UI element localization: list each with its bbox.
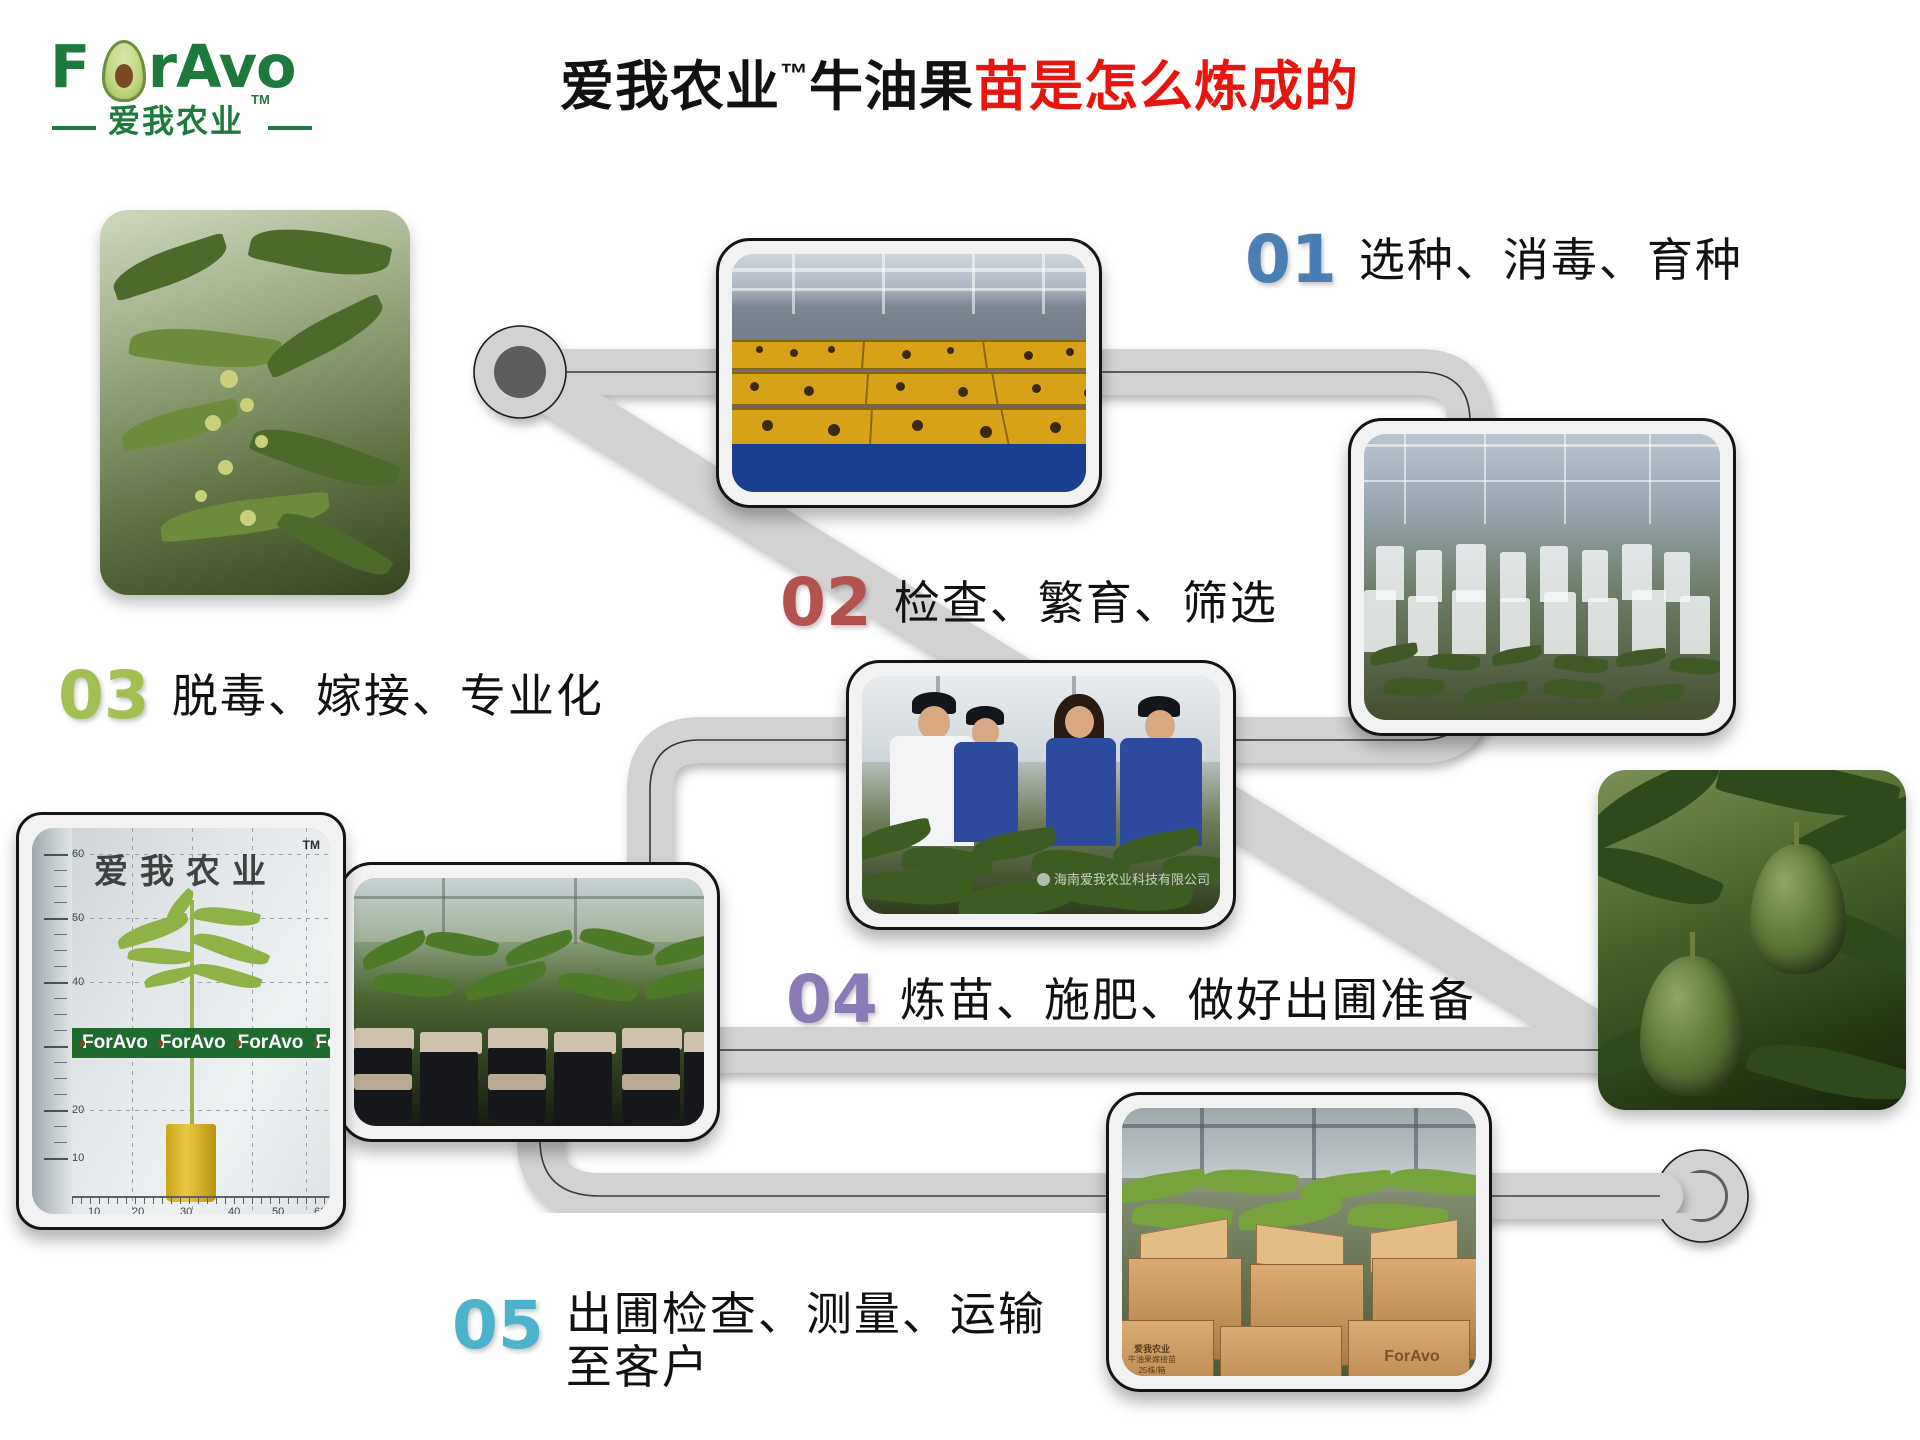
photo-greenhouse-grafted-bags bbox=[1348, 418, 1736, 736]
step-01-number: 01 bbox=[1245, 221, 1337, 298]
avocado-pit-icon bbox=[115, 64, 133, 88]
infographic-canvas: F rAvo 爱我农业 TM 爱我农业™牛油果苗是怎么炼成的 bbox=[0, 0, 1920, 1440]
step-02-label: 02检查、繁育、筛选 bbox=[780, 565, 1278, 642]
watermark-dot-icon bbox=[1037, 873, 1050, 886]
logo-divider-left bbox=[52, 126, 96, 130]
foravo-band-text-2: ForAvo bbox=[160, 1032, 226, 1054]
photo-potted-seedlings-nursery bbox=[338, 862, 720, 1142]
ruler-tick-10: 10 bbox=[72, 1152, 84, 1164]
photo-staff-inspecting-seedlings: 海南爱我农业科技有限公司 bbox=[846, 660, 1236, 930]
title-tm-mark: ™ bbox=[780, 58, 809, 89]
step-04-text: 炼苗、施肥、做好出圃准备 bbox=[900, 974, 1476, 1026]
step-05-text: 出圃检查、测量、运输 至客户 bbox=[566, 1288, 1046, 1395]
step-02-number: 02 bbox=[780, 564, 872, 641]
yellow-pot bbox=[166, 1124, 216, 1202]
brand-logo: F rAvo 爱我农业 TM bbox=[46, 34, 316, 144]
ruler-bottom-60: 60 bbox=[314, 1206, 326, 1214]
step-01-label: 01选种、消毒、育种 bbox=[1245, 222, 1743, 299]
title-part-black-2: 牛油果 bbox=[809, 57, 974, 117]
step-05-number: 05 bbox=[452, 1287, 544, 1364]
foravo-band-text-1: ForAvo bbox=[82, 1032, 148, 1054]
title-part-black: 爱我农业 bbox=[560, 57, 780, 117]
photo-seedlings-packed-boxes: 爱我农业 牛油果嫁接苗 25株/箱 订购电话：400-615-9916 ForA… bbox=[1106, 1092, 1492, 1392]
step-02-text: 检查、繁育、筛选 bbox=[894, 577, 1278, 629]
foravo-band-text-3: ForAvo bbox=[238, 1032, 304, 1054]
logo-tm-mark: TM bbox=[251, 92, 270, 107]
photo-avocado-flowering-branch bbox=[100, 210, 410, 595]
box-label-line2: 牛油果嫁接苗 bbox=[1122, 1354, 1206, 1365]
step-05-label: 05出圃检查、测量、运输 至客户 bbox=[452, 1288, 1046, 1395]
box-side-brand: ForAvo bbox=[1358, 1348, 1466, 1366]
title-part-red: 苗是怎么炼成的 bbox=[974, 57, 1359, 117]
ruler-photo-tm: TM bbox=[303, 838, 320, 852]
ruler-bottom-20: 20 bbox=[132, 1206, 144, 1214]
logo-subtitle: 爱我农业 bbox=[108, 96, 244, 142]
step-03-number: 03 bbox=[58, 657, 150, 734]
photo-seedling-ruler-measure: 60 50 40 30 20 bbox=[16, 812, 346, 1230]
foravo-banner: ForAvo ForAvo ForAvo ForAvo bbox=[72, 1028, 330, 1058]
photo-seed-germination-trays bbox=[716, 238, 1102, 508]
step-01-text: 选种、消毒、育种 bbox=[1359, 234, 1743, 286]
step-03-label: 03脱毒、嫁接、专业化 bbox=[58, 658, 604, 735]
logo-divider-right bbox=[268, 126, 312, 130]
step-03-text: 脱毒、嫁接、专业化 bbox=[172, 670, 604, 722]
page-title: 爱我农业™牛油果苗是怎么炼成的 bbox=[560, 42, 1359, 119]
logo-wordmark: F rAvo bbox=[50, 34, 296, 100]
photo-avocado-fruit-on-tree bbox=[1598, 770, 1906, 1110]
box-label-line3: 25株/箱 bbox=[1122, 1365, 1206, 1376]
step-04-label: 04炼苗、施肥、做好出圃准备 bbox=[786, 962, 1476, 1039]
ruler-bottom-40: 40 bbox=[228, 1206, 240, 1214]
step-04-number: 04 bbox=[786, 961, 878, 1038]
ruler-bottom-30: 30 bbox=[180, 1206, 192, 1214]
ruler-bottom-50: 50 bbox=[272, 1206, 284, 1214]
ruler-bottom-10: 10 bbox=[88, 1206, 100, 1214]
ruler-photo-brand: 爱我农业 bbox=[94, 844, 278, 893]
photo-watermark: 海南爱我农业科技有限公司 bbox=[1037, 869, 1210, 888]
